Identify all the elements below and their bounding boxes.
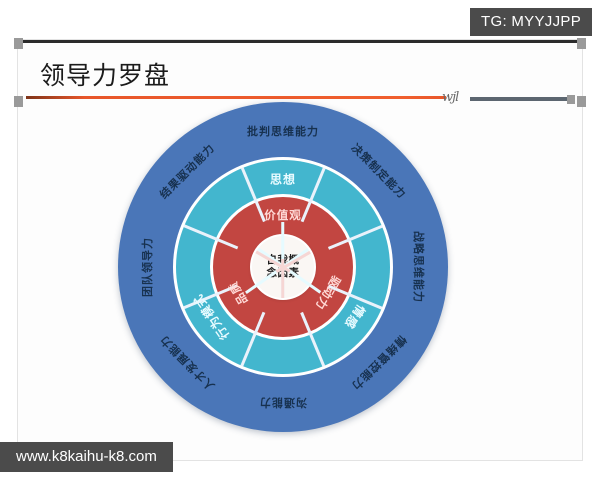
title-underline-gray <box>470 97 574 101</box>
selection-handle-top-right[interactable] <box>577 38 586 49</box>
middle-ring-segment-label[interactable]: 思想 <box>270 171 296 188</box>
slide-canvas[interactable]: 领导力罗盘 wjl 自我概 念因素 批判思维能力决策制定能力战略思维能力情绪管控… <box>18 40 582 460</box>
outer-ring-segment-label[interactable]: 沟通能力 <box>259 395 307 411</box>
selection-handle-middle-left[interactable] <box>14 96 23 107</box>
page-title: 领导力罗盘 <box>40 56 170 92</box>
tg-badge: TG: MYYJJPP <box>470 8 592 36</box>
leadership-compass-diagram[interactable]: 自我概 念因素 批判思维能力决策制定能力战略思维能力情绪管控能力沟通能力人才发展… <box>118 102 448 432</box>
selection-handle-top-left[interactable] <box>14 38 23 49</box>
slide-top-border <box>18 40 582 43</box>
title-underline-orange <box>26 96 446 99</box>
inner-ring-segment-label[interactable]: 价值观 <box>264 207 302 223</box>
outer-ring-segment-label[interactable]: 团队领导力 <box>139 237 155 297</box>
outer-ring-segment-label[interactable]: 批判思维能力 <box>247 123 319 139</box>
outer-ring-segment-label[interactable]: 战略思维能力 <box>411 231 427 303</box>
selection-handle-middle-right[interactable] <box>577 96 586 107</box>
footer-url: www.k8kaihu-k8.com <box>0 442 173 472</box>
